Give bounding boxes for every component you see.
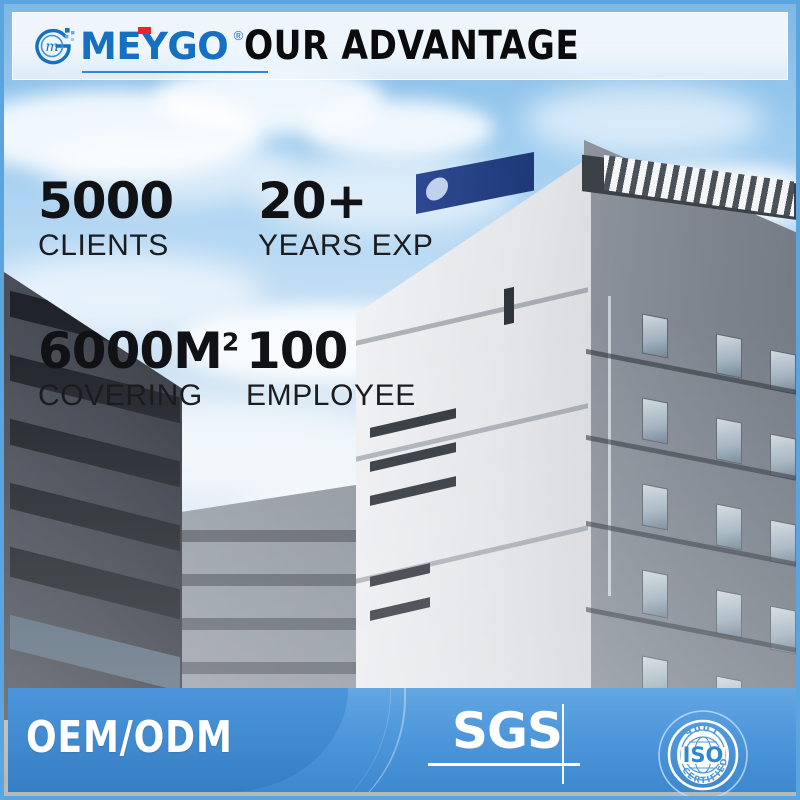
stat-value-exponent: 2	[222, 327, 238, 356]
page-title: OUR ADVANTAGE	[244, 23, 579, 69]
meygo-logo[interactable]: m MEYGO ®	[31, 23, 228, 69]
logo-underline	[82, 71, 268, 73]
registered-trademark-icon: ®	[234, 28, 244, 43]
sgs-underline	[428, 763, 580, 766]
stats-row-2: 6000M2 COVERING 100 EMPLOYEE	[38, 326, 478, 414]
stats-grid: 5000 CLIENTS 20+ YEARS EXP 6000M2 COVERI…	[38, 176, 478, 475]
logo-wordmark: MEYGO	[80, 25, 228, 68]
stat-label: YEARS EXP	[258, 229, 478, 264]
iso-9001-badge: ISO 9001 CERTIFIED	[655, 707, 751, 800]
stat-clients: 5000 CLIENTS	[38, 176, 258, 264]
flag-pole	[608, 296, 611, 596]
logo-emblem-icon: m	[31, 23, 77, 69]
svg-text:m: m	[45, 39, 58, 55]
stat-value: 5000	[38, 176, 258, 227]
header-bar: m MEYGO ® OUR ADVANTAGE	[12, 12, 788, 80]
logo-accent-mark	[138, 27, 151, 34]
stat-years-exp: 20+ YEARS EXP	[258, 176, 478, 264]
sgs-logo: SGS	[428, 708, 618, 778]
oem-odm-label: OEM/ODM	[26, 712, 233, 763]
stat-value: 20+	[258, 176, 478, 227]
stat-label: COVERING	[38, 379, 246, 414]
building-dark-facade	[584, 140, 796, 720]
stat-value: 100	[246, 326, 478, 377]
stats-row-1: 5000 CLIENTS 20+ YEARS EXP	[38, 176, 478, 264]
sgs-vertical-rule	[562, 704, 564, 784]
iso-mark-text: ISO	[683, 743, 724, 767]
stat-label: EMPLOYEE	[246, 379, 478, 414]
stat-value: 6000M2	[38, 326, 246, 377]
stat-employee: 100 EMPLOYEE	[246, 326, 478, 414]
stat-value-text: 6000M	[38, 322, 222, 380]
stat-label: CLIENTS	[38, 229, 258, 264]
stat-covering-area: 6000M2 COVERING	[38, 326, 246, 414]
advantage-banner: m MEYGO ® OUR ADVANTAGE 5000 CLIENTS	[0, 0, 800, 800]
sgs-label: SGS	[452, 706, 562, 756]
